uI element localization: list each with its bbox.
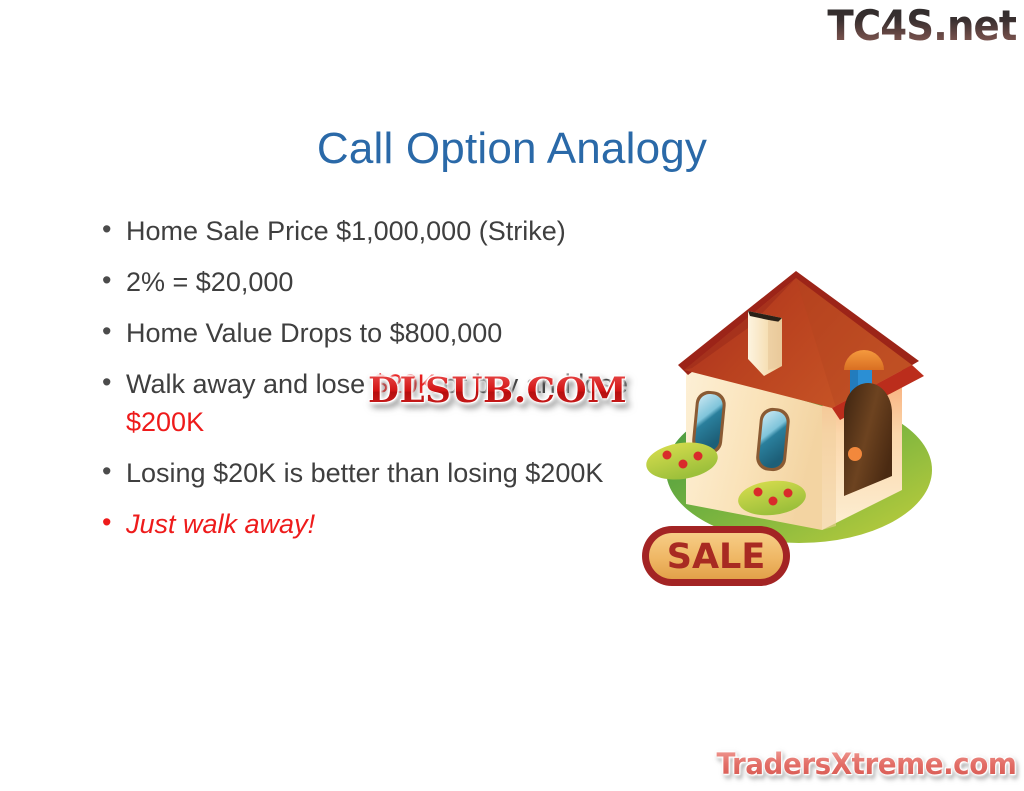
list-item-text: Home Value Drops to $800,000 xyxy=(126,314,636,352)
bullet-marker-icon: • xyxy=(96,212,126,246)
list-item-line: 2% = $20,000 xyxy=(126,267,293,297)
list-item-segment: Walk away and lose xyxy=(126,369,373,399)
list-item: • Home Value Drops to $800,000 xyxy=(96,314,636,352)
list-item: • Home Sale Price $1,000,000 (Strike) xyxy=(96,212,636,250)
list-item: • Just walk away! xyxy=(96,505,636,543)
bullet-marker-icon: • xyxy=(96,505,126,539)
list-item-line: (Strike) xyxy=(479,216,566,246)
list-item-text: 2% = $20,000 xyxy=(126,263,636,301)
dlsub-watermark: DLSUB.COM xyxy=(368,373,627,410)
highlight-amount: $200K xyxy=(126,407,204,437)
bullet-marker-icon: • xyxy=(96,454,126,488)
page-title: Call Option Analogy xyxy=(0,124,1024,174)
list-item-line: Losing $20K is better than losing xyxy=(126,458,518,488)
bullet-marker-icon: • xyxy=(96,263,126,297)
list-item-text: Just walk away! xyxy=(126,505,636,543)
slide-canvas: TC4S.net Call Option Analogy • Home Sale… xyxy=(0,0,1024,791)
list-item-line: Home Sale Price $1,000,000 xyxy=(126,216,471,246)
tc4s-watermark: TC4S.net xyxy=(827,2,1016,50)
bullet-marker-icon: • xyxy=(96,365,126,399)
list-item-text: Losing $20K is better than losing $200K xyxy=(126,454,636,492)
list-item: • 2% = $20,000 xyxy=(96,263,636,301)
sale-badge-label: SALE xyxy=(667,537,766,577)
tradersxtreme-watermark: TradersXtreme.com xyxy=(716,749,1016,781)
list-item: • Losing $20K is better than losing $200… xyxy=(96,454,636,492)
house-for-sale-illustration: SALE xyxy=(636,258,966,598)
list-item-text: Home Sale Price $1,000,000 (Strike) xyxy=(126,212,636,250)
sale-badge: SALE xyxy=(642,526,790,586)
bullet-marker-icon: • xyxy=(96,314,126,348)
list-item-line: $800,000 xyxy=(390,318,503,348)
list-item-line: $200K xyxy=(525,458,603,488)
list-item-line: Home Value Drops to xyxy=(126,318,382,348)
